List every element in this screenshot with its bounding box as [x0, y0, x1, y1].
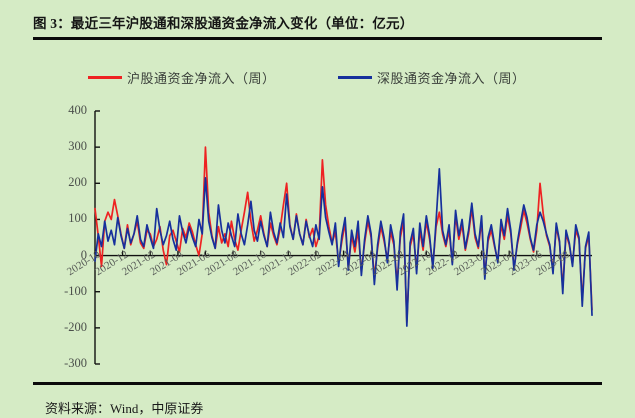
- legend-label-sz-connect: 深股通资金净流入（周）: [377, 68, 526, 87]
- chart-legend: 沪股通资金净流入（周） 深股通资金净流入（周）: [88, 68, 548, 90]
- legend-label-hk-connect: 沪股通资金净流入（周）: [127, 68, 276, 87]
- legend-swatch-red: [88, 76, 122, 79]
- x-axis-tick-label: 2021-12: [258, 248, 295, 278]
- y-axis-tick-label: -300: [41, 356, 87, 371]
- legend-item-sz-connect: 深股通资金净流入（周）: [338, 68, 526, 87]
- x-axis-tick-label: 2022-06: [341, 248, 378, 278]
- y-axis-tick-label: 100: [41, 211, 87, 226]
- x-axis-tick-label: 2021-04: [148, 248, 185, 278]
- legend-item-hk-connect: 沪股通资金净流入（周）: [88, 68, 276, 87]
- footer-divider: [33, 382, 602, 385]
- x-axis-tick-label: 2020-10: [65, 248, 102, 278]
- x-axis-tick-label: 2023-04: [479, 248, 516, 278]
- x-axis-tick-label: 2022-02: [286, 248, 323, 278]
- series-line-sz-connect: [95, 169, 592, 326]
- series-line-hk-connect: [95, 147, 592, 322]
- y-axis-tick-label: -200: [41, 320, 87, 335]
- y-axis-tick-label: 400: [41, 103, 87, 118]
- x-axis-tick-label: 2022-10: [396, 248, 433, 278]
- y-axis-tick-label: 200: [41, 175, 87, 190]
- page-title: 图 3：最近三年沪股通和深股通资金净流入变化（单位：亿元）: [33, 12, 413, 32]
- x-axis-tick-label: 2023-06: [507, 248, 544, 278]
- x-axis-tick-label: 2021-02: [120, 248, 157, 278]
- x-axis-tick-label: 2021-06: [175, 248, 212, 278]
- x-axis-tick-label: 2023-08: [534, 248, 571, 278]
- x-axis-tick-label: 2021-10: [231, 248, 268, 278]
- x-axis-tick-label: 2021-08: [203, 248, 240, 278]
- line-chart-svg: [0, 0, 635, 413]
- y-axis-tick-label: 0: [41, 248, 87, 263]
- figure-container: 图 3：最近三年沪股通和深股通资金净流入变化（单位：亿元） 沪股通资金净流入（周…: [0, 0, 635, 413]
- x-axis-tick-label: 2023-02: [452, 248, 489, 278]
- x-axis-tick-label: 2022-08: [369, 248, 406, 278]
- legend-swatch-blue: [338, 76, 372, 79]
- y-axis-tick-label: 300: [41, 139, 87, 154]
- x-axis-tick-label: 2022-12: [424, 248, 461, 278]
- y-axis-tick-label: -100: [41, 284, 87, 299]
- title-divider: [33, 37, 602, 40]
- x-axis-tick-label: 2022-04: [314, 248, 351, 278]
- x-axis-tick-label: 2020-12: [93, 248, 130, 278]
- source-note: 资料来源：Wind，中原证券: [45, 398, 203, 417]
- chart-plot-area: 4003002001000-100-200-3002020-102020-122…: [0, 0, 635, 413]
